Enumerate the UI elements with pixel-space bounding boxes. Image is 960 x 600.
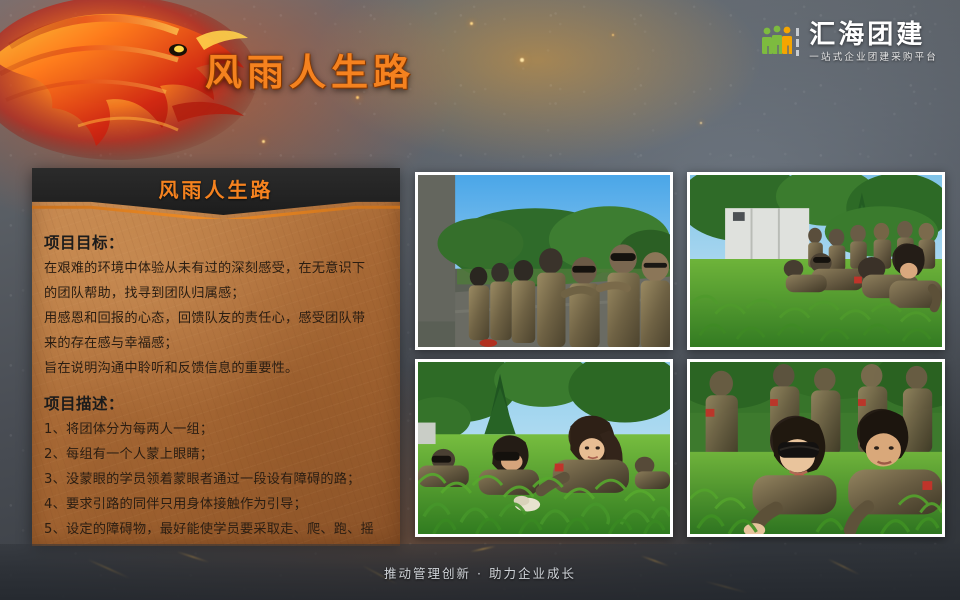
section-heading-description: 项目描述： <box>44 392 388 414</box>
description-line: 1、将团体分为每两人一组； <box>44 417 388 442</box>
card-title: 风雨人生路 <box>159 174 274 203</box>
brand-name: 汇海团建 <box>809 22 938 48</box>
brand-logo[interactable]: 汇海团建 一站式企业团建采购平台 <box>761 22 938 63</box>
slide-title: 风雨人生路 <box>0 42 620 96</box>
brand-tagline: 一站式企业团建采购平台 <box>809 53 938 63</box>
description-line: 3、没蒙眼的学员领着蒙眼者通过一段设有障碍的路； <box>44 467 388 492</box>
slide-footer: 推动管理创新 · 助力企业成长 <box>0 544 960 600</box>
photo-grid <box>415 172 945 537</box>
slide-root: 风雨人生路 汇海团建 一站式企业团建采购平台 风雨人生路 项目目标： 在艰难的 <box>0 0 960 600</box>
photo-crawling-group-wall <box>690 175 942 349</box>
photo-team-line-blindfold <box>418 175 670 349</box>
photo-item[interactable] <box>687 172 945 350</box>
footer-slogan: 推动管理创新 · 助力企业成长 <box>384 563 576 582</box>
hi-people-logo-icon <box>761 24 801 60</box>
photo-item[interactable] <box>415 359 673 537</box>
section-heading-goal: 项目目标： <box>44 231 388 253</box>
card-body: 项目目标： 在艰难的环境中体验从未有过的深刻感受，在无意识下 的团队帮助，找寻到… <box>32 215 400 546</box>
photo-blindfolded-pair-closeup <box>690 362 942 536</box>
photo-item[interactable] <box>415 172 673 350</box>
description-line: 2、每组有一个人蒙上眼睛； <box>44 442 388 467</box>
project-info-card: 风雨人生路 项目目标： 在艰难的环境中体验从未有过的深刻感受，在无意识下 的团队… <box>32 168 400 546</box>
description-line: 5、设定的障碍物，最好能使学员要采取走、爬、跑、摇 <box>44 517 388 542</box>
photo-item[interactable] <box>687 359 945 537</box>
goal-line: 在艰难的环境中体验从未有过的深刻感受，在无意识下 <box>44 256 388 281</box>
brand-logo-text: 汇海团建 一站式企业团建采购平台 <box>809 22 938 63</box>
goal-line: 旨在说明沟通中聆听和反馈信息的重要性。 <box>44 356 388 381</box>
photo-woman-crawling-grass <box>418 362 670 536</box>
goal-line: 的团队帮助，找寻到团队归属感； <box>44 281 388 306</box>
goal-line: 用感恩和回报的心态，回馈队友的责任心，感受团队带 <box>44 306 388 331</box>
description-line: 4、要求引路的同伴只用身体接触作为引导； <box>44 492 388 517</box>
goal-line: 来的存在感与幸福感； <box>44 331 388 356</box>
